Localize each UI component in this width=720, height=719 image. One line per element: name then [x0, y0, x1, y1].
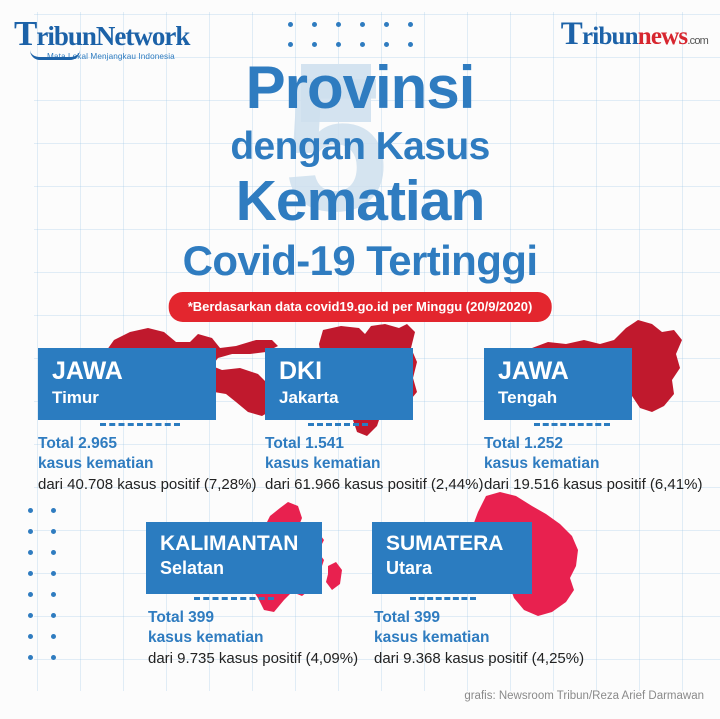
total-deaths-line1: Total 399: [148, 608, 358, 628]
stats-sumatera-utara: Total 399 kasus kematian dari 9.368 kasu…: [374, 608, 584, 669]
region-banner-jawa-timur: JAWA Timur: [38, 348, 216, 420]
region-banner-sumatera-utara: SUMATERA Utara: [372, 522, 532, 594]
total-deaths-line1: Total 399: [374, 608, 584, 628]
grid-mask-top: [0, 0, 720, 12]
tribunnews-logo-cap: T: [561, 16, 582, 52]
dot: [51, 634, 56, 639]
hero-title-block: 5 Provinsi dengan Kasus Kematian Covid-1…: [0, 58, 720, 282]
dot: [288, 22, 293, 27]
tribun-network-logo-mid: ribun: [36, 21, 96, 51]
dot: [51, 655, 56, 660]
region-banner-jawa-tengah: JAWA Tengah: [484, 348, 632, 420]
title-line-4: Covid-19 Tertinggi: [0, 240, 720, 282]
total-deaths-line2: kasus kematian: [38, 454, 256, 474]
region-name-sub: Tengah: [498, 389, 632, 406]
tribunnews-logo-blue: ribun: [582, 23, 638, 50]
dot: [408, 42, 413, 47]
dot: [360, 22, 365, 27]
region-banner-kalimantan-selatan: KALIMANTAN Selatan: [146, 522, 322, 594]
title-line-3: Kematian: [0, 173, 720, 230]
source-note-badge: *Berdasarkan data covid19.go.id per Ming…: [169, 292, 552, 322]
dot: [28, 550, 33, 555]
stats-dki-jakarta: Total 1.541 kasus kematian dari 61.966 k…: [265, 434, 483, 495]
divider-dashed: [410, 597, 476, 600]
dot: [28, 571, 33, 576]
region-name-main: DKI: [279, 359, 413, 384]
tribunnews-blue-part: Tribun: [561, 23, 638, 50]
tribun-network-wordmark: TribunNetwork: [14, 16, 189, 51]
divider-dashed: [100, 423, 180, 426]
divider-dashed: [534, 423, 610, 426]
dot: [28, 592, 33, 597]
region-name-main: SUMATERA: [386, 533, 532, 554]
total-deaths-line2: kasus kematian: [148, 628, 358, 648]
positive-cases-line: dari 9.368 kasus positif (4,25%): [374, 649, 584, 669]
dot-grid-left: [28, 508, 74, 676]
dot: [384, 22, 389, 27]
region-name-sub: Jakarta: [279, 389, 413, 406]
dot: [28, 655, 33, 660]
total-deaths-line1: Total 1.252: [484, 434, 702, 454]
dot: [28, 613, 33, 618]
title-line-1: Provinsi: [0, 58, 720, 118]
tribun-network-logo-cap: T: [14, 14, 36, 53]
tribun-network-logo: TribunNetwork Mata Lokal Menjangkau Indo…: [14, 16, 189, 61]
positive-cases-line: dari 9.735 kasus positif (4,09%): [148, 649, 358, 669]
tribunnews-logo-red: news: [638, 23, 688, 50]
total-deaths-line2: kasus kematian: [265, 454, 483, 474]
dot: [408, 22, 413, 27]
region-name-sub: Timur: [52, 389, 216, 406]
footer-credit: grafis: Newsroom Tribun/Reza Arief Darma…: [464, 690, 704, 702]
stats-kalimantan-selatan: Total 399 kasus kematian dari 9.735 kasu…: [148, 608, 358, 669]
dot: [312, 22, 317, 27]
region-banner-dki-jakarta: DKI Jakarta: [265, 348, 413, 420]
stats-jawa-tengah: Total 1.252 kasus kematian dari 19.516 k…: [484, 434, 702, 495]
dot: [51, 550, 56, 555]
region-name-main: JAWA: [498, 359, 632, 384]
region-name-main: JAWA: [52, 359, 216, 384]
tribunnews-logo: Tribunnews.com: [561, 18, 708, 51]
dot: [28, 529, 33, 534]
region-name-sub: Utara: [386, 559, 532, 577]
total-deaths-line1: Total 2.965: [38, 434, 256, 454]
tribun-network-logo-end: Network: [96, 21, 189, 51]
total-deaths-line1: Total 1.541: [265, 434, 483, 454]
title-line-2: dengan Kasus: [0, 127, 720, 166]
infographic-page: TribunNetwork Mata Lokal Menjangkau Indo…: [0, 0, 720, 719]
region-name-sub: Selatan: [160, 559, 322, 577]
positive-cases-line: dari 40.708 kasus positif (7,28%): [38, 475, 256, 495]
divider-dashed: [194, 597, 274, 600]
total-deaths-line2: kasus kematian: [374, 628, 584, 648]
dot: [28, 508, 33, 513]
positive-cases-line: dari 61.966 kasus positif (2,44%): [265, 475, 483, 495]
dot: [51, 613, 56, 618]
dot: [336, 22, 341, 27]
divider-dashed: [308, 423, 368, 426]
dot: [51, 529, 56, 534]
total-deaths-line2: kasus kematian: [484, 454, 702, 474]
region-name-main: KALIMANTAN: [160, 533, 322, 554]
dot: [51, 592, 56, 597]
dot: [51, 508, 56, 513]
tribunnews-logo-dotcom: .com: [687, 35, 708, 47]
dot: [51, 571, 56, 576]
positive-cases-line: dari 19.516 kasus positif (6,41%): [484, 475, 702, 495]
stats-jawa-timur: Total 2.965 kasus kematian dari 40.708 k…: [38, 434, 256, 495]
dot: [28, 634, 33, 639]
